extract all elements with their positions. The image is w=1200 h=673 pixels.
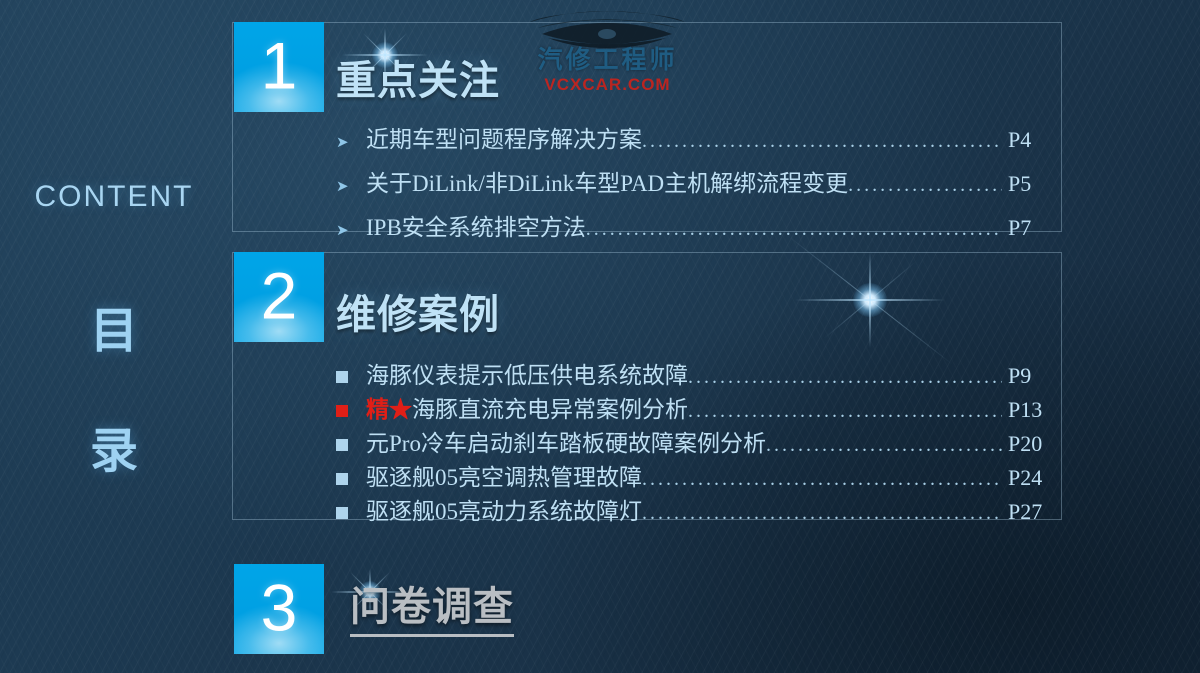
leader-dots: ........................................…: [642, 468, 1002, 491]
watermark-url: VCXCAR.COM: [510, 76, 705, 93]
item-page: P24: [1008, 465, 1062, 491]
list-item[interactable]: 驱逐舰05亮空调热管理故障 ..........................…: [336, 458, 1062, 492]
section-3-number-box[interactable]: 3: [234, 564, 324, 654]
item-highlight-prefix: 精★海豚直流充电异常案例分析: [366, 390, 688, 424]
list-item[interactable]: 元Pro冷车启动刹车踏板硬故障案例分析 ....................…: [336, 424, 1062, 458]
square-bullet-icon: [336, 503, 366, 525]
list-item[interactable]: 关于DiLink/非DiLink车型PAD主机解绑流程变更 ..........…: [336, 164, 1062, 208]
section-1-title: 重点关注: [336, 48, 500, 106]
list-item[interactable]: IPB安全系统排空方法 ............................…: [336, 208, 1062, 252]
item-label: 海豚仪表提示低压供电系统故障: [366, 356, 688, 390]
item-page: P5: [1008, 171, 1062, 197]
section-1-items: 近期车型问题程序解决方案 ...........................…: [336, 120, 1062, 252]
toc-slide: CONTENT 目 录 汽修工程师 VCXCAR.COM 1 重点关注 近期车型…: [0, 0, 1200, 673]
list-item[interactable]: 驱逐舰05亮动力系统故障灯 ..........................…: [336, 492, 1062, 526]
section-2-number: 2: [234, 263, 324, 329]
section-2-title: 维修案例: [336, 282, 500, 340]
featured-tag: 精★: [366, 397, 412, 422]
item-label: 驱逐舰05亮空调热管理故障: [366, 458, 642, 492]
section-3-number: 3: [234, 575, 324, 641]
leader-dots: ........................................…: [586, 218, 1002, 241]
item-page: P4: [1008, 127, 1062, 153]
square-bullet-icon-red: [336, 401, 366, 423]
square-bullet-icon: [336, 367, 366, 389]
watermark-brand: 汽修工程师: [510, 48, 705, 73]
sidebar-label-mu: 目: [0, 272, 228, 392]
item-page: P9: [1008, 363, 1062, 389]
item-label: IPB安全系统排空方法: [366, 208, 586, 242]
leader-dots: ........................................…: [688, 400, 1002, 423]
section-2-number-box[interactable]: 2: [234, 252, 324, 342]
list-item-featured[interactable]: 精★海豚直流充电异常案例分析 .........................…: [336, 390, 1062, 424]
arrow-bullet-icon: [336, 175, 366, 197]
item-page: P20: [1008, 431, 1062, 457]
section-2-items: 海豚仪表提示低压供电系统故障 .........................…: [336, 356, 1062, 526]
leader-dots: ........................................…: [642, 130, 1002, 153]
leader-dots: ........................................…: [642, 502, 1002, 525]
item-page: P13: [1008, 397, 1062, 423]
leader-dots: ........................................…: [766, 434, 1002, 457]
leader-dots: ........................................…: [688, 366, 1002, 389]
watermark-logo: 汽修工程师 VCXCAR.COM: [510, 8, 705, 93]
item-page: P7: [1008, 215, 1062, 241]
item-page: P27: [1008, 499, 1062, 525]
leader-dots: ........................................…: [848, 174, 1002, 197]
item-label: 驱逐舰05亮动力系统故障灯: [366, 492, 642, 526]
sidebar-label-lu: 录: [0, 392, 228, 512]
sidebar-heading: CONTENT: [0, 180, 228, 214]
item-label: 近期车型问题程序解决方案: [366, 120, 642, 154]
section-1-number-box[interactable]: 1: [234, 22, 324, 112]
list-item[interactable]: 近期车型问题程序解决方案 ...........................…: [336, 120, 1062, 164]
sidebar: CONTENT 目 录: [0, 180, 228, 512]
section-3-title[interactable]: 问卷调查: [350, 574, 514, 637]
square-bullet-icon: [336, 435, 366, 457]
item-label: 元Pro冷车启动刹车踏板硬故障案例分析: [366, 424, 766, 458]
list-item[interactable]: 海豚仪表提示低压供电系统故障 .........................…: [336, 356, 1062, 390]
square-bullet-icon: [336, 469, 366, 491]
item-label: 海豚直流充电异常案例分析: [412, 397, 688, 422]
item-label: 关于DiLink/非DiLink车型PAD主机解绑流程变更: [366, 164, 848, 198]
section-1-number: 1: [234, 33, 324, 99]
arrow-bullet-icon: [336, 131, 366, 153]
arrow-bullet-icon: [336, 219, 366, 241]
